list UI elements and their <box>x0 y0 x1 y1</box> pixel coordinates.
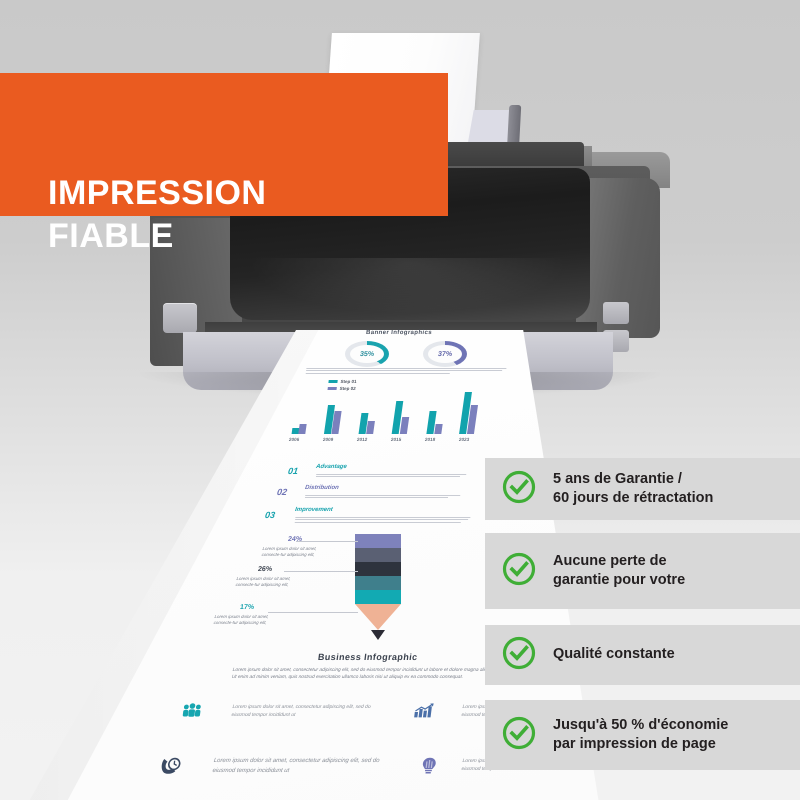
bar-axis-label-5: 2023 <box>459 437 470 442</box>
feature-3-line-1: Jusqu'à 50 % d'économie <box>553 717 728 733</box>
headline-banner: IMPRESSION FIABLE <box>0 73 448 216</box>
feature-2-line-1: Qualité constante <box>553 646 675 662</box>
check-circle-icon <box>501 469 537 510</box>
feature-box-2-text: Qualité constante <box>553 645 675 664</box>
feature-0-line-1: 5 ans de Garantie / <box>553 471 682 487</box>
feature-3-line-2: par impression de page <box>553 736 716 752</box>
check-circle-icon <box>501 635 537 676</box>
poster-canvas: Banner Infographics 35% 37% Step 01 Step… <box>0 0 800 800</box>
feature-box-1[interactable]: Aucune perte de garantie pour votre <box>485 533 800 609</box>
feature-box-1-text: Aucune perte de garantie pour votre <box>553 552 685 591</box>
bar-step02-0 <box>298 424 306 434</box>
feature-box-3[interactable]: Jusqu'à 50 % d'économie par impression d… <box>485 700 800 770</box>
printer-button-right-top[interactable] <box>603 302 629 324</box>
check-circle-icon <box>501 715 537 756</box>
feature-1-line-1: Aucune perte de <box>553 553 667 569</box>
page-title-line-1: IMPRESSION <box>48 174 266 212</box>
feature-0-line-2: 60 jours de rétractation <box>553 490 713 506</box>
feature-box-0[interactable]: 5 ans de Garantie / 60 jours de rétracta… <box>485 458 800 520</box>
check-circle-icon <box>501 551 537 592</box>
bar-axis-label-3: 2015 <box>391 437 402 442</box>
feature-1-line-2: garantie pour votre <box>553 572 685 588</box>
printer-cover-gloss <box>248 258 568 314</box>
bar-axis-label-2: 2012 <box>357 437 368 442</box>
bar-step02-4 <box>434 424 442 434</box>
bar-axis-label-4: 2018 <box>425 437 436 442</box>
feature-box-2[interactable]: Qualité constante <box>485 625 800 685</box>
bar-axis-label-1: 2009 <box>323 437 334 442</box>
page-title-line-2: FIABLE <box>48 215 438 258</box>
page-title: IMPRESSION FIABLE <box>48 172 438 258</box>
printer-button-left[interactable] <box>163 303 197 333</box>
feature-box-0-text: 5 ans de Garantie / 60 jours de rétracta… <box>553 470 713 509</box>
feature-box-3-text: Jusqu'à 50 % d'économie par impression d… <box>553 716 728 755</box>
bar-axis-label-0: 2006 <box>289 437 300 442</box>
